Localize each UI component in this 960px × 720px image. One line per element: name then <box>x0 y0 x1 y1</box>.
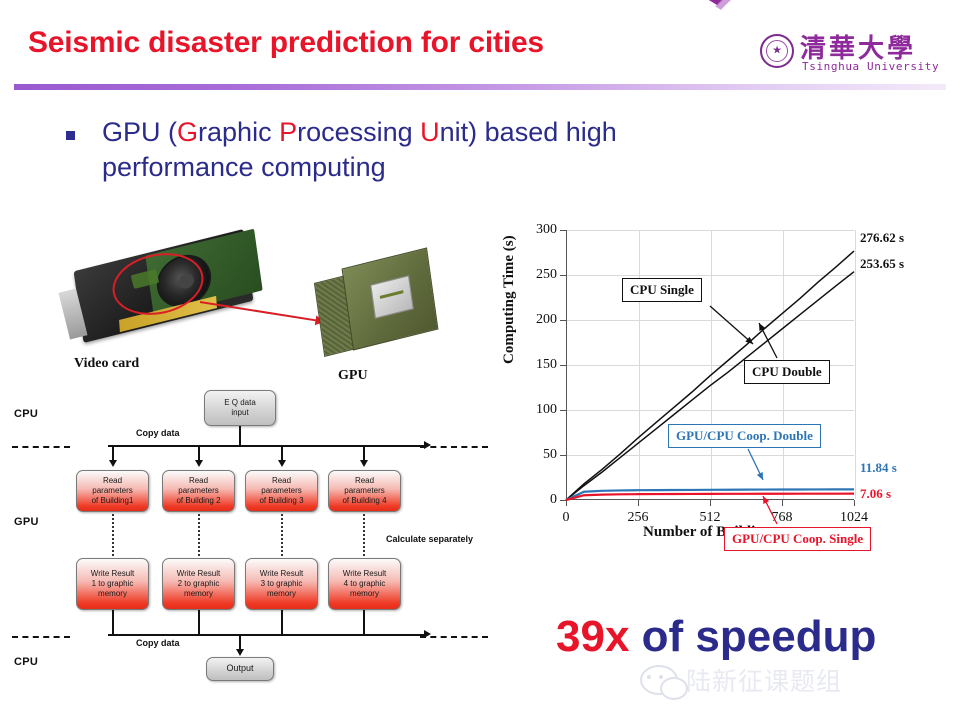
lane-label-gpu: GPU <box>14 516 39 528</box>
gpu-label: GPU <box>338 368 368 384</box>
drop-1 <box>112 445 114 461</box>
video-card-label: Video card <box>74 356 139 372</box>
gridline-horizontal <box>567 230 854 231</box>
chart-x-tick-label: 256 <box>628 510 649 526</box>
chart-y-tick <box>560 455 566 456</box>
callout-cpu-double: CPU Double <box>744 360 830 384</box>
riser-1 <box>112 610 114 635</box>
chart-y-tick-label: 100 <box>536 402 557 418</box>
gridline-horizontal <box>567 275 854 276</box>
lane-divider-top-left <box>12 446 70 448</box>
bullet-line-2: performance computing <box>102 152 386 182</box>
node-write-result-4[interactable]: Write Result 4 to graphic memory <box>328 558 401 610</box>
chart-y-axis-label: Computing Time (s) <box>501 235 518 364</box>
bullet-item: GPU (Graphic Processing Unit) based high… <box>66 115 866 185</box>
node-read-building-3[interactable]: Read parameters of Building 3 <box>245 470 318 512</box>
chart-x-tick-label: 0 <box>563 510 570 526</box>
speedup-number: 39x <box>556 612 629 661</box>
node-write-result-4-label: Write Result 4 to graphic memory <box>343 569 386 600</box>
callout-gpu-cpu-single: GPU/CPU Coop. Single <box>724 527 871 551</box>
dotted-connector-4 <box>363 514 365 556</box>
chart-y-tick-label: 50 <box>543 447 557 463</box>
node-read-building-2-label: Read parameters of Building 2 <box>176 476 220 507</box>
endlabel-cpu-single: 276.62 s <box>860 230 904 246</box>
node-write-result-1[interactable]: Write Result 1 to graphic memory <box>76 558 149 610</box>
chart-y-tick <box>560 320 566 321</box>
gpu-flowchart: CPU GPU CPU E Q data input Copy data Rea… <box>0 388 500 688</box>
node-read-building-1[interactable]: Read parameters of Building1 <box>76 470 149 512</box>
speedup-statement: 39x of speedup <box>556 612 876 662</box>
endlabel-cpu-double: 253.65 s <box>860 256 904 272</box>
gridline-vertical <box>855 230 856 499</box>
copy-data-top-label: Copy data <box>136 428 180 438</box>
chart-x-tick <box>566 500 567 506</box>
riser-3 <box>281 610 283 635</box>
copy-data-bottom-label: Copy data <box>136 638 180 648</box>
node-write-result-2-label: Write Result 2 to graphic memory <box>177 569 220 600</box>
bullet-square-icon <box>66 131 75 140</box>
drop-3-arrow <box>278 460 286 467</box>
drop-4-arrow <box>360 460 368 467</box>
node-read-building-3-label: Read parameters of Building 3 <box>259 476 303 507</box>
chart-x-tick <box>854 500 855 506</box>
chart-y-tick-label: 300 <box>536 222 557 238</box>
node-write-result-3-label: Write Result 3 to graphic memory <box>260 569 303 600</box>
wechat-icon <box>640 665 678 695</box>
hardware-photo-group: Video card GPU <box>60 228 470 388</box>
dotted-connector-3 <box>281 514 283 556</box>
tsinghua-logo: ★ 清華大學 Tsinghua University <box>692 0 960 86</box>
chart-y-tick-label: 250 <box>536 267 557 283</box>
chart-y-tick <box>560 230 566 231</box>
node-read-building-1-label: Read parameters of Building1 <box>92 476 134 507</box>
drop-2-arrow <box>195 460 203 467</box>
chart-y-tick-label: 200 <box>536 312 557 328</box>
node-write-result-3[interactable]: Write Result 3 to graphic memory <box>245 558 318 610</box>
chart-x-tick <box>710 500 711 506</box>
drop-1-arrow <box>109 460 117 467</box>
edge-bus-to-output <box>239 634 241 650</box>
riser-2 <box>198 610 200 635</box>
bullet-hl-g: G <box>177 117 198 147</box>
page-title: Seismic disaster prediction for cities <box>28 26 544 60</box>
drop-3 <box>281 445 283 461</box>
callout-cpu-single: CPU Single <box>622 278 702 302</box>
bus-top <box>108 445 426 447</box>
bus-top-arrowhead <box>424 441 431 449</box>
bullet-seg-4: nit) based high <box>440 117 617 147</box>
dotted-connector-2 <box>198 514 200 556</box>
callout-gpu-cpu-double: GPU/CPU Coop. Double <box>668 424 821 448</box>
bullet-hl-p: P <box>279 117 297 147</box>
chart-x-tick-label: 512 <box>700 510 721 526</box>
wechat-icon-bubble <box>660 677 688 700</box>
bullet-seg-1: GPU ( <box>102 117 177 147</box>
edge-output-arrow <box>236 649 244 656</box>
gridline-horizontal <box>567 410 854 411</box>
gridline-horizontal <box>567 320 854 321</box>
bus-bottom-arrowhead <box>424 630 431 638</box>
logo-star-icon: ★ <box>772 46 782 57</box>
chart-y-tick-label: 0 <box>550 492 557 508</box>
lane-divider-bottom-left <box>12 636 70 638</box>
calculate-separately-label: Calculate separately <box>386 534 473 544</box>
drop-4 <box>363 445 365 461</box>
node-read-building-4[interactable]: Read parameters of Building 4 <box>328 470 401 512</box>
gridline-horizontal <box>567 455 854 456</box>
watermark-text: 陆新征课题组 <box>686 662 842 698</box>
chart-x-tick-label: 768 <box>772 510 793 526</box>
chart-x-tick <box>638 500 639 506</box>
node-read-building-4-label: Read parameters of Building 4 <box>342 476 386 507</box>
dotted-connector-1 <box>112 514 114 556</box>
lane-label-cpu-top: CPU <box>14 408 38 420</box>
node-write-result-2[interactable]: Write Result 2 to graphic memory <box>162 558 235 610</box>
wechat-watermark: 陆新征课题组 <box>640 662 842 698</box>
node-output-label: Output <box>226 663 253 675</box>
chart-y-tick-label: 150 <box>536 357 557 373</box>
chart-y-tick <box>560 365 566 366</box>
bullet-seg-3: rocessing <box>297 117 420 147</box>
chart-y-tick <box>560 410 566 411</box>
edge-input-to-bus <box>239 426 241 446</box>
riser-4 <box>363 610 365 635</box>
lane-label-cpu-bottom: CPU <box>14 656 38 668</box>
node-read-building-2[interactable]: Read parameters of Building 2 <box>162 470 235 512</box>
drop-2 <box>198 445 200 461</box>
chart-x-tick <box>782 500 783 506</box>
chart-x-tick-label: 1024 <box>840 510 868 526</box>
performance-chart: Computing Time (s) Number of Buildings 0… <box>505 212 955 552</box>
speedup-text: of speedup <box>629 612 876 661</box>
bullet-hl-u: U <box>420 117 440 147</box>
node-write-result-1-label: Write Result 1 to graphic memory <box>91 569 134 600</box>
endlabel-gpu-cpu-double: 11.84 s <box>860 460 897 476</box>
endlabel-gpu-cpu-single: 7.06 s <box>860 486 891 502</box>
bullet-seg-2: raphic <box>198 117 279 147</box>
chart-y-tick <box>560 275 566 276</box>
slide-root: Seismic disaster prediction for cities ★… <box>0 0 960 720</box>
node-eq-data-input[interactable]: E Q data input <box>204 390 276 426</box>
node-eq-data-input-label: E Q data input <box>224 398 256 418</box>
logo-english-name: Tsinghua University <box>802 60 939 73</box>
bullet-text: GPU (Graphic Processing Unit) based high… <box>102 115 866 185</box>
pointer-arrow-icon <box>200 301 324 323</box>
node-output[interactable]: Output <box>206 657 274 681</box>
bus-bottom <box>108 634 426 636</box>
logo-seal-icon: ★ <box>760 34 794 68</box>
